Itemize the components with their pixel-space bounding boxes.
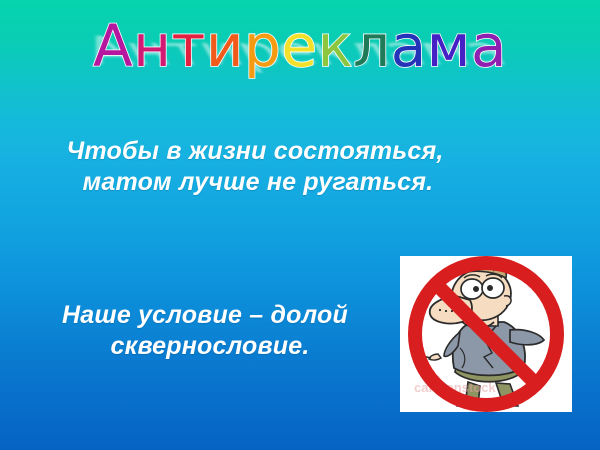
quote-line: сквернословие. [0, 331, 410, 362]
title-letter: е [281, 12, 317, 80]
title-letter: л [353, 12, 391, 80]
left-pupil [473, 286, 479, 292]
quote-text-second: Наше условие – долой сквернословие. [0, 300, 410, 362]
illustration-frame: cartoonstock [400, 256, 572, 412]
title-letter: к [318, 12, 354, 80]
title-letter: м [427, 12, 471, 80]
title-letter: и [206, 12, 244, 80]
quote-line: Чтобы в жизни состояться, [10, 136, 500, 167]
title-letter: н [133, 12, 171, 80]
quote-line: Наше условие – долой [0, 300, 410, 331]
title-wordart: Антиреклама [0, 14, 600, 78]
quote-line: матом лучше не ругаться. [10, 167, 500, 198]
title-letter: т [172, 12, 206, 80]
no-swearing-illustration: cartoonstock [400, 256, 572, 412]
title-letter: А [93, 12, 133, 80]
slide-title: Антиреклама Антиреклама [0, 14, 600, 92]
left-eye [461, 279, 483, 299]
quote-text-first: Чтобы в жизни состояться, матом лучше не… [10, 136, 500, 198]
slide-canvas: Антиреклама Антиреклама Чтобы в жизни со… [0, 0, 600, 450]
right-pupil [487, 285, 493, 291]
title-letter: р [244, 12, 281, 80]
stubble-dot [439, 309, 441, 311]
stubble-dot [445, 310, 447, 312]
title-letter: а [391, 12, 427, 80]
title-letter: а [471, 12, 507, 80]
